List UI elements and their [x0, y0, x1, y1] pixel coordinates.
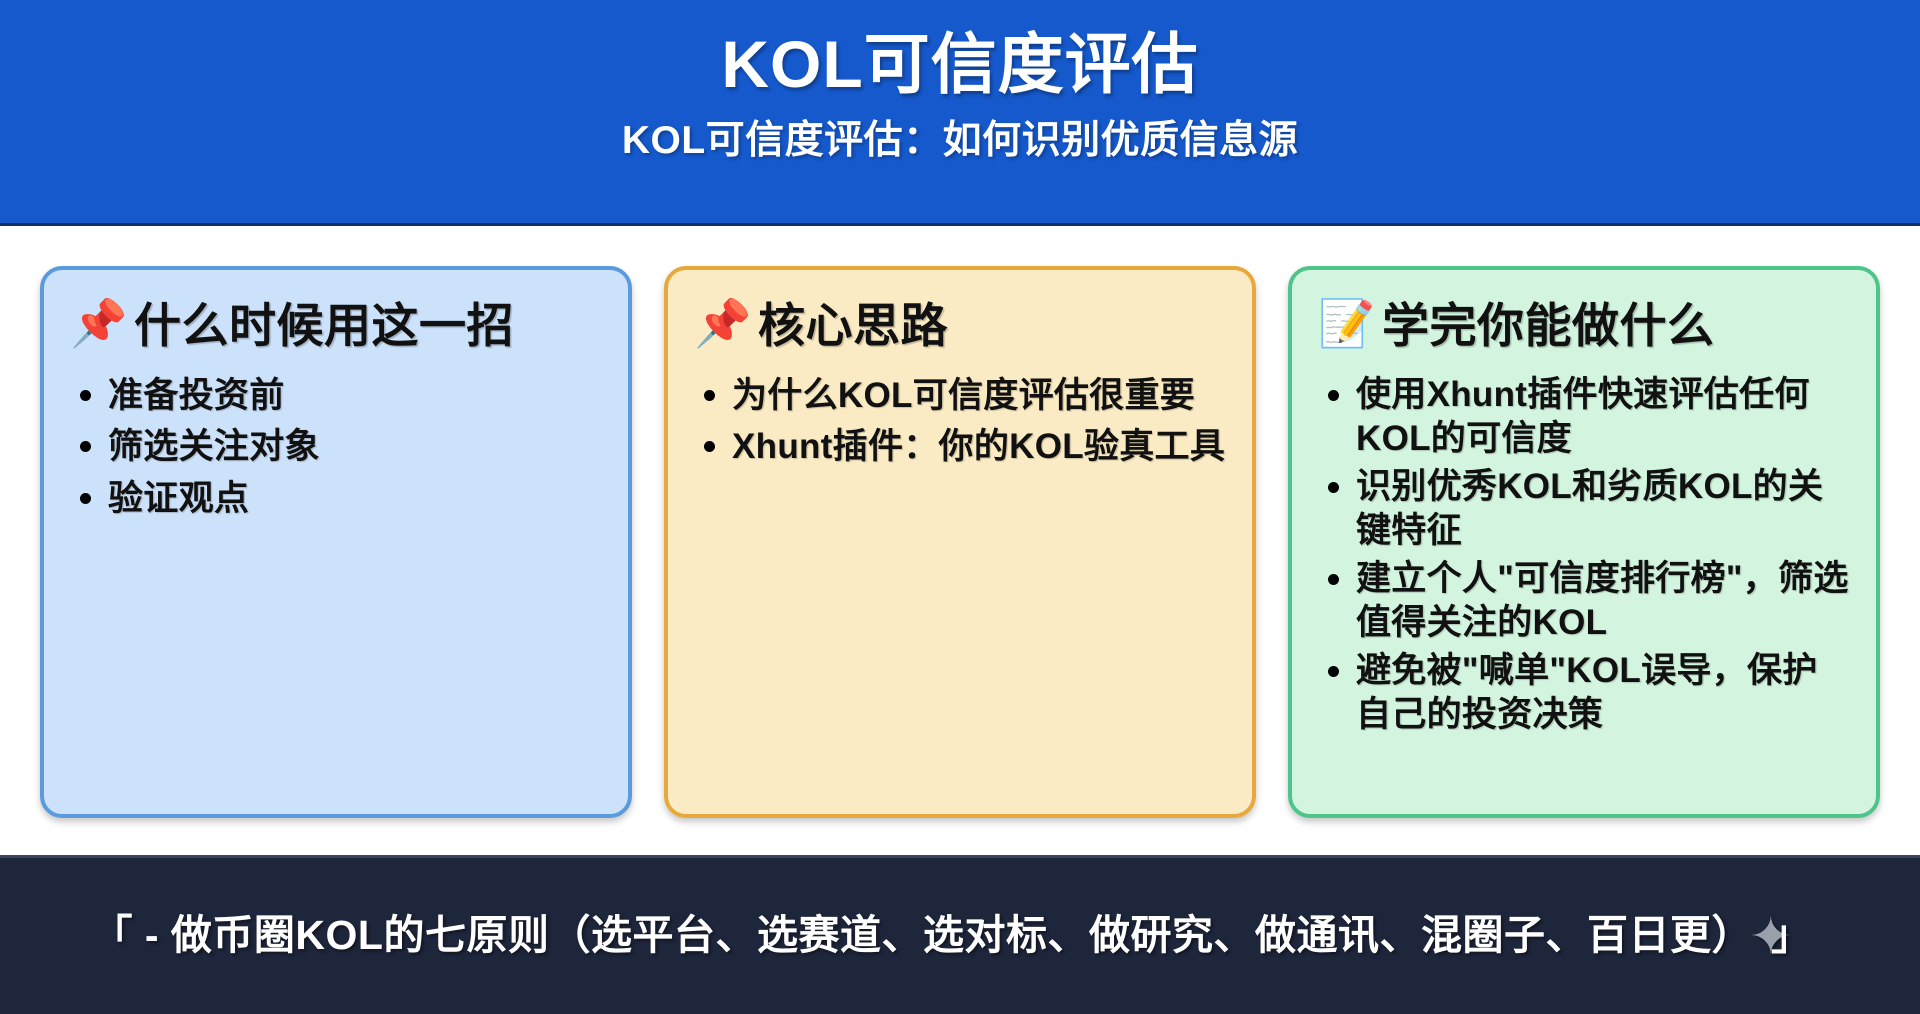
- card-title: 什么时候用这一招: [134, 300, 514, 353]
- footer-caption-text: 「 - 做币圈KOL的七原则（选平台、选赛道、选对标、做研究、做通讯、混圈子、百…: [91, 911, 1752, 960]
- card-learning-outcomes: 📝 学完你能做什么 使用Xhunt插件快速评估任何KOL的可信度 识别优秀KOL…: [1288, 266, 1880, 818]
- card-bullet-list: 使用Xhunt插件快速评估任何KOL的可信度 识别优秀KOL和劣质KOL的关键特…: [1318, 373, 1850, 742]
- list-item: 准备投资前: [70, 373, 602, 419]
- slide-root: KOL可信度评估 KOL可信度评估：如何识别优质信息源 📌 什么时候用这一招 准…: [0, 0, 1920, 1014]
- list-item: 筛选关注对象: [70, 424, 602, 470]
- card-header: 📌 核心思路: [694, 300, 1226, 353]
- list-item: 建立个人"可信度排行榜"，筛选值得关注的KOL: [1318, 557, 1850, 645]
- slide-footer: 「 - 做币圈KOL的七原则（选平台、选赛道、选对标、做研究、做通讯、混圈子、百…: [0, 855, 1920, 1014]
- card-bullet-list: 准备投资前 筛选关注对象 验证观点: [70, 373, 602, 528]
- list-item: Xhunt插件：你的KOL验真工具: [694, 424, 1226, 470]
- card-title: 核心思路: [758, 300, 948, 353]
- page-subtitle: KOL可信度评估：如何识别优质信息源: [622, 118, 1298, 165]
- card-title: 学完你能做什么: [1382, 300, 1715, 353]
- page-title: KOL可信度评估: [721, 26, 1198, 104]
- card-header: 📌 什么时候用这一招: [70, 300, 602, 353]
- memo-icon: 📝: [1318, 300, 1368, 352]
- list-item: 避免被"喊单"KOL误导，保护自己的投资决策: [1318, 649, 1850, 737]
- card-header: 📝 学完你能做什么: [1318, 300, 1850, 353]
- list-item: 为什么KOL可信度评估很重要: [694, 373, 1226, 419]
- card-when-to-use: 📌 什么时候用这一招 准备投资前 筛选关注对象 验证观点: [40, 266, 632, 818]
- slide-header: KOL可信度评估 KOL可信度评估：如何识别优质信息源: [0, 0, 1920, 226]
- list-item: 识别优秀KOL和劣质KOL的关键特征: [1318, 465, 1850, 553]
- card-core-idea: 📌 核心思路 为什么KOL可信度评估很重要 Xhunt插件：你的KOL验真工具: [664, 266, 1256, 818]
- pushpin-icon: 📌: [70, 300, 120, 352]
- list-item: 验证观点: [70, 476, 602, 522]
- list-item: 使用Xhunt插件快速评估任何KOL的可信度: [1318, 373, 1850, 461]
- pushpin-icon: 📌: [694, 300, 744, 352]
- closing-bracket: 」: [1771, 911, 1813, 960]
- footer-caption: 「 - 做币圈KOL的七原则（选平台、选赛道、选对标、做研究、做通讯、混圈子、百…: [91, 910, 1828, 962]
- card-bullet-list: 为什么KOL可信度评估很重要 Xhunt插件：你的KOL验真工具: [694, 373, 1226, 476]
- cards-container: 📌 什么时候用这一招 准备投资前 筛选关注对象 验证观点 📌 核心思路 为什么K…: [0, 266, 1920, 818]
